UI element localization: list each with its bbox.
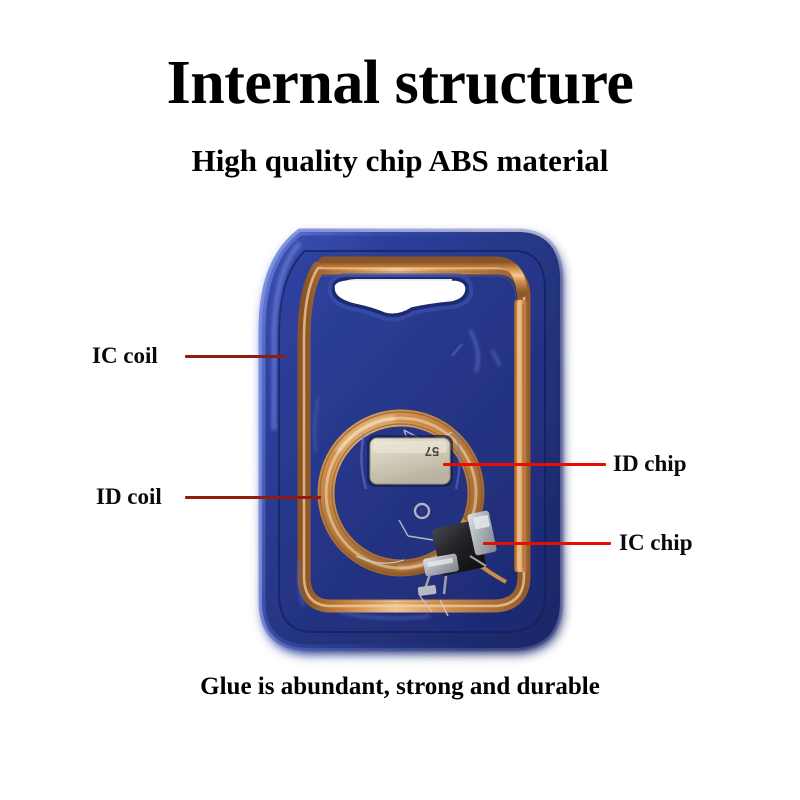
callout-label-id-coil: ID coil [96, 485, 162, 508]
callout-label-ic-coil: IC coil [92, 344, 158, 367]
callout-line-id-coil [185, 496, 321, 499]
id-chip-module: 57 [361, 433, 459, 489]
callout-label-ic-chip: IC chip [619, 531, 693, 554]
callout-line-ic-coil [185, 355, 286, 358]
callout-line-id-chip [443, 463, 606, 466]
id-chip-marking: 57 [425, 444, 439, 459]
footer-caption: Glue is abundant, strong and durable [0, 674, 800, 699]
callout-label-id-chip: ID chip [613, 452, 687, 475]
ic-coil-right-bundle [514, 300, 528, 572]
product-infographic: Internal structure High quality chip ABS… [0, 0, 800, 800]
callout-line-ic-chip [483, 542, 611, 545]
